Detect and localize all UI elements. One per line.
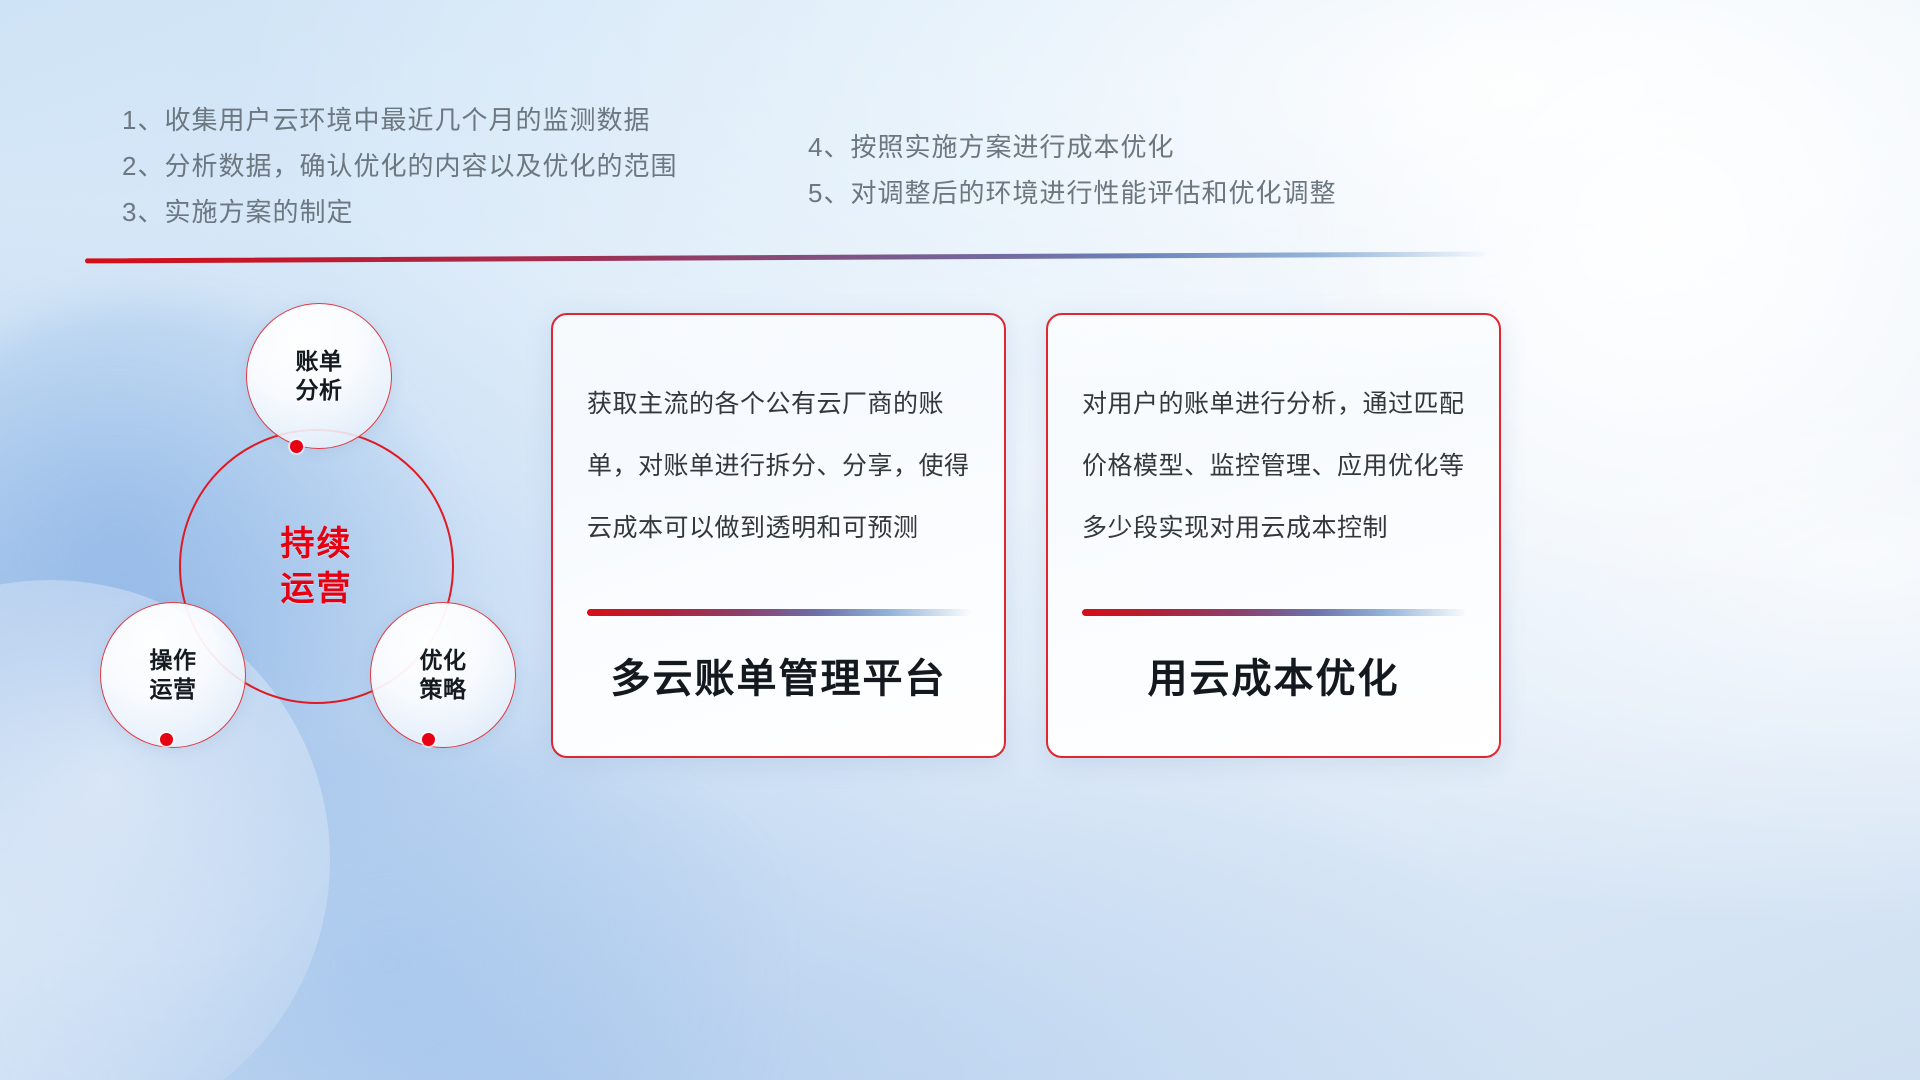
- card-body-text: 获取主流的各个公有云厂商的账单，对账单进行拆分、分享，使得云成本可以做到透明和可…: [587, 373, 970, 609]
- steps-right-column: 4、按照实施方案进行成本优化 5、对调整后的环境进行性能评估和优化调整: [808, 124, 1336, 216]
- card-multi-cloud-billing-platform[interactable]: 获取主流的各个公有云厂商的账单，对账单进行拆分、分享，使得云成本可以做到透明和可…: [551, 313, 1006, 758]
- diagram-node-label: 优化 策略: [420, 646, 467, 705]
- diagram-node-optimization[interactable]: 优化 策略: [370, 602, 516, 748]
- diagram-center-label-line2: 运营: [281, 570, 353, 608]
- continuous-operation-diagram: 持续 运营 账单 分析 操作 运营 优化 策略: [80, 290, 550, 770]
- card-divider-rule: [1082, 609, 1465, 616]
- card-title: 用云成本优化: [1082, 646, 1465, 756]
- step-item-1: 1、收集用户云环境中最近几个月的监测数据: [122, 97, 677, 143]
- diagram-node-label: 操作 运营: [150, 646, 197, 705]
- step-item-5: 5、对调整后的环境进行性能评估和优化调整: [808, 170, 1336, 216]
- diagram-node-label-line2: 分析: [296, 377, 343, 403]
- diagram-node-label-line2: 策略: [420, 676, 467, 702]
- card-body-text: 对用户的账单进行分析，通过匹配价格模型、监控管理、应用优化等多少段实现对用云成本…: [1082, 373, 1465, 609]
- step-item-3: 3、实施方案的制定: [122, 189, 677, 235]
- card-divider-rule: [587, 609, 970, 616]
- diagram-node-label-line1: 账单: [296, 348, 343, 374]
- diagram-node-label: 账单 分析: [296, 347, 343, 406]
- diagram-node-bill-analysis[interactable]: 账单 分析: [246, 303, 392, 449]
- step-item-4: 4、按照实施方案进行成本优化: [808, 124, 1336, 170]
- card-title: 多云账单管理平台: [587, 646, 970, 756]
- step-item-2: 2、分析数据，确认优化的内容以及优化的范围: [122, 143, 677, 189]
- diagram-connector-dot-top: [290, 440, 303, 453]
- diagram-node-label-line1: 优化: [420, 647, 467, 673]
- steps-left-column: 1、收集用户云环境中最近几个月的监测数据 2、分析数据，确认优化的内容以及优化的…: [122, 97, 677, 235]
- diagram-center-label: 持续 运营: [281, 522, 353, 610]
- card-cloud-cost-optimization[interactable]: 对用户的账单进行分析，通过匹配价格模型、监控管理、应用优化等多少段实现对用云成本…: [1046, 313, 1501, 758]
- diagram-connector-dot-left: [160, 733, 173, 746]
- diagram-center-label-line1: 持续: [281, 525, 353, 563]
- diagram-node-label-line1: 操作: [150, 647, 197, 673]
- diagram-connector-dot-right: [422, 733, 435, 746]
- diagram-node-label-line2: 运营: [150, 676, 197, 702]
- diagram-node-operations[interactable]: 操作 运营: [100, 602, 246, 748]
